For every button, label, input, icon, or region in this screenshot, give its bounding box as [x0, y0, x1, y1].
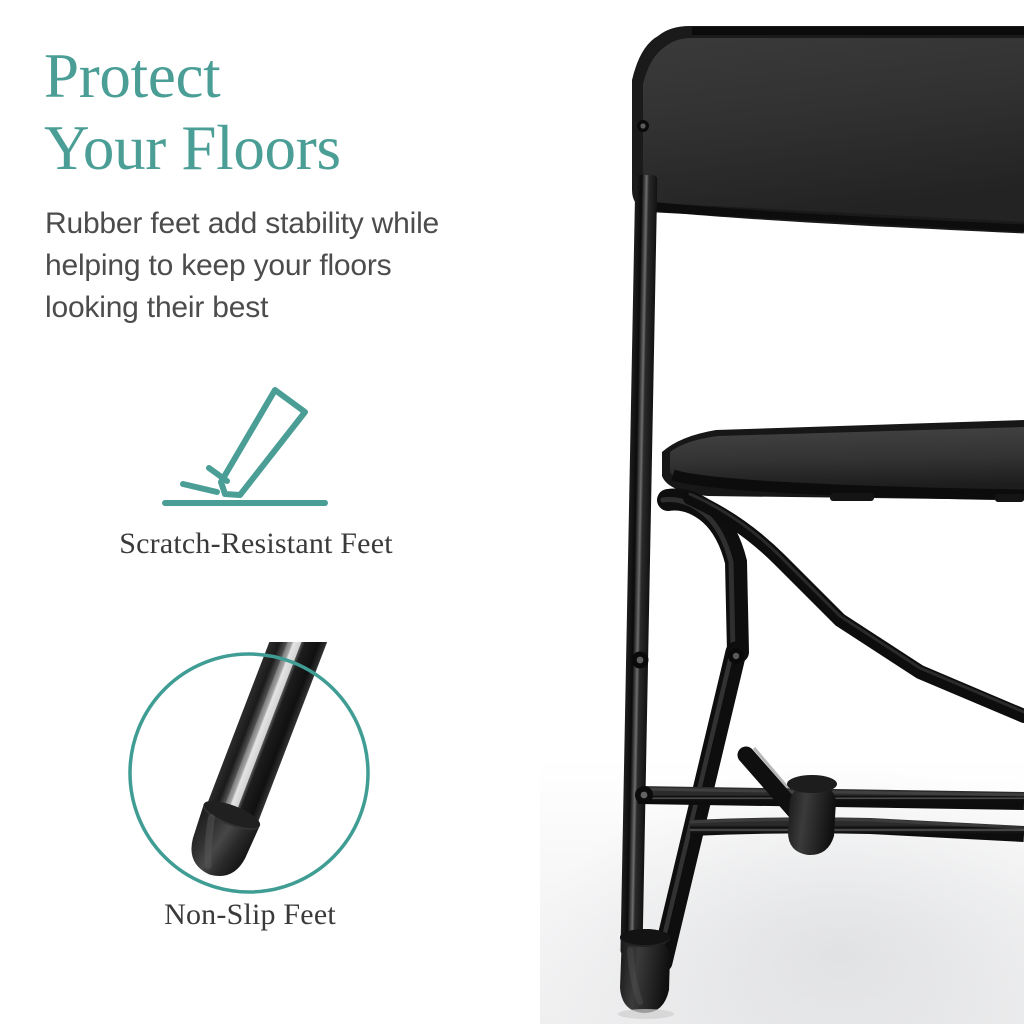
folding-chair-svg: [540, 0, 1024, 1024]
subheading-text: Rubber feet add stability while helping …: [45, 203, 545, 329]
leg-shape: [221, 390, 305, 495]
chair-brace-foot-cap: [787, 775, 837, 855]
non-slip-feet-label: Non-Slip Feet: [0, 898, 500, 932]
chair-leg-tube: [181, 642, 337, 885]
non-slip-icon-svg: [118, 642, 380, 904]
chair-backrest: [632, 26, 1024, 232]
marketing-image: Protect Your Floors Rubber feet add stab…: [0, 0, 1024, 1024]
scratch-icon-svg: [155, 382, 335, 507]
scratch-resistant-leg-icon: [155, 382, 335, 507]
page-title: Protect Your Floors: [44, 40, 564, 184]
spark-line-2: [183, 484, 217, 492]
chair-seat: [662, 420, 1024, 502]
scratch-resistant-feet-label: Scratch-Resistant Feet: [0, 527, 512, 561]
product-image-folding-chair: [540, 0, 1024, 1024]
chair-rear-foot-cap: [618, 929, 674, 1019]
chair-rear-leg-post: [620, 175, 657, 955]
non-slip-foot-photo: [118, 642, 380, 904]
chair-front-leg: [658, 492, 1024, 962]
